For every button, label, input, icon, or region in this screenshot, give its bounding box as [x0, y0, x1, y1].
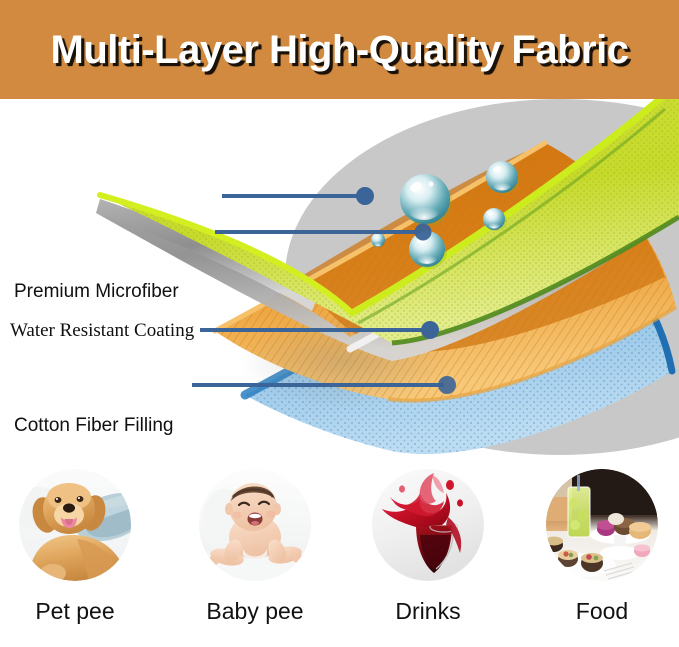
crawling-baby-icon	[199, 469, 311, 581]
drinks-image	[372, 469, 484, 581]
use-case-pet-pee: Pet pee	[0, 459, 150, 624]
use-case-caption-food: Food	[527, 599, 677, 624]
layer-label-premium-microfiber: Premium Microfiber	[14, 282, 179, 301]
layer-label-cotton-fiber-filling: Cotton Fiber Filling	[14, 416, 173, 435]
use-case-caption-drinks: Drinks	[353, 599, 503, 624]
food-image	[546, 469, 658, 581]
product-infographic: Multi-Layer High-Quality Fabric	[0, 0, 679, 647]
pet-pee-image	[19, 469, 131, 581]
page-title: Multi-Layer High-Quality Fabric	[51, 30, 629, 70]
dot-anti-slip-backing	[438, 376, 456, 394]
golden-retriever-dog-icon	[19, 469, 131, 581]
use-case-caption-pet-pee: Pet pee	[0, 599, 150, 624]
use-case-food: Food	[527, 459, 677, 624]
use-case-baby-pee: Baby pee	[180, 459, 330, 624]
fabric-cutaway-illustration	[0, 99, 679, 459]
use-case-drinks: Drinks	[353, 459, 503, 624]
header-banner: Multi-Layer High-Quality Fabric	[0, 0, 679, 99]
use-case-caption-baby-pee: Baby pee	[180, 599, 330, 624]
party-food-platter-icon	[546, 469, 658, 581]
use-case-row: Pet pee	[0, 459, 679, 647]
red-wine-splash-icon	[372, 469, 484, 581]
dot-cotton-fiber-filling	[421, 321, 439, 339]
baby-pee-image	[199, 469, 311, 581]
layer-label-water-resistant-coating: Water Resistant Coating	[10, 321, 194, 340]
dot-premium-microfiber	[356, 187, 374, 205]
fabric-layer-diagram: Premium Microfiber Water Resistant Coati…	[0, 99, 679, 459]
dot-water-resistant-coating	[415, 224, 432, 241]
